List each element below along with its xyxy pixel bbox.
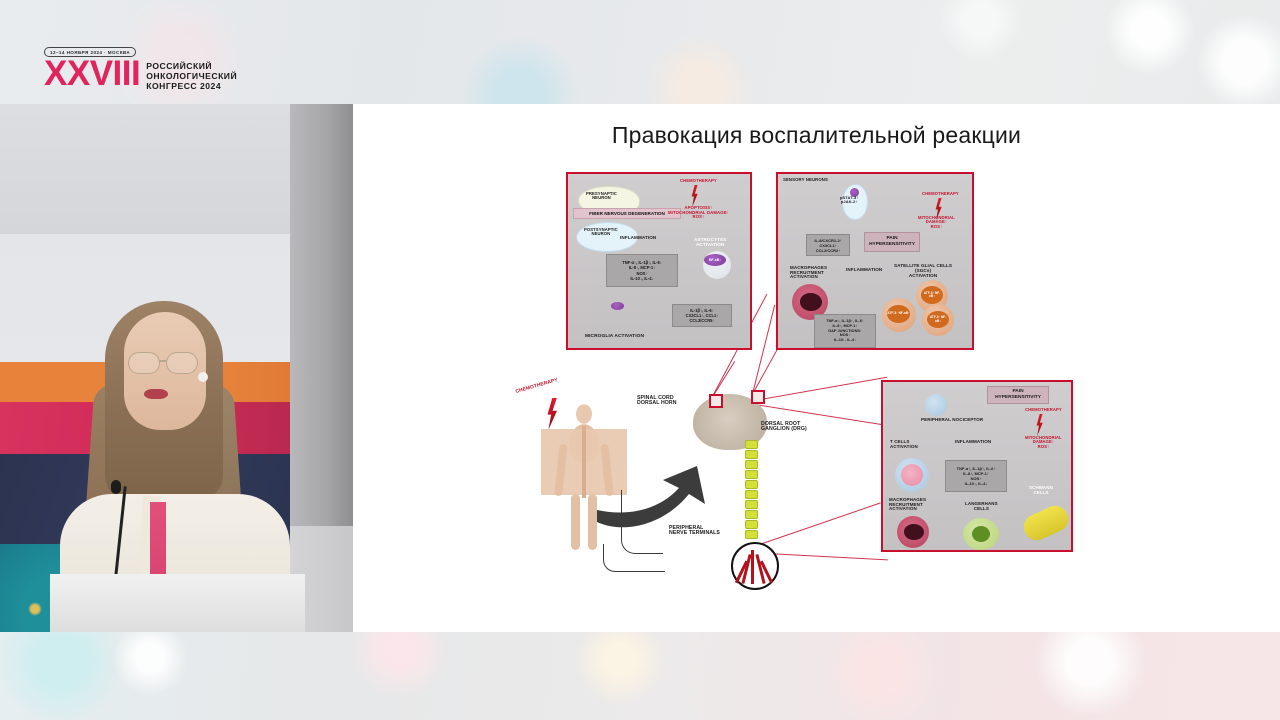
backdrop-wall — [0, 104, 290, 234]
footer-band — [0, 632, 1280, 720]
logo-line-1: РОССИЙСКИЙ — [146, 62, 237, 71]
congress-logo: 12–14 НОЯБРЯ 2024 · МОСКВА XXVIII РОССИЙ… — [44, 47, 237, 91]
cytokine-box-left: TNF-α↑, IL-1β↑, IL-6↑ IL-8↑, MCP-1↑ NOS↑… — [606, 254, 678, 287]
speaker-video-feed[interactable] — [0, 104, 353, 632]
label-chemotherapy: CHEMOTHERAPY — [680, 179, 717, 183]
slide-surface: Правокация воспалительной реакции PRESYN… — [353, 104, 1280, 628]
pain-hypersensitivity-box: PAIN HYPERSENSITIVITY — [987, 386, 1049, 404]
label-atf3-c: ATF-3↑ NF-κB↑ — [927, 311, 949, 328]
panel-spinal-cord-dorsal-horn: PRESYNAPTIC NEURON POSTSYNAPTIC NEURON F… — [566, 172, 752, 350]
marker-drg[interactable] — [751, 390, 765, 404]
label-satellite-glial-cells: SATELLITE GLIAL CELLS (SGCs) ACTIVATION — [894, 264, 952, 278]
arm-left — [554, 444, 567, 497]
label-mitochondrial-damage: MITOCHONDRIAL DAMAGE↑ ROS↑ — [918, 216, 955, 229]
speaker-glasses-left-lens — [128, 352, 160, 374]
label-t-cells-activation: T CELLS ACTIVATION — [890, 440, 918, 449]
label-mitochondrial-damage: MITOCHONDRIAL DAMAGE↑ ROS↑ — [1025, 436, 1062, 449]
connector-line — [752, 305, 775, 395]
spine — [582, 426, 586, 498]
logo-main: XXVIII РОССИЙСКИЙ ОНКОЛОГИЧЕСКИЙ КОНГРЕС… — [44, 60, 237, 92]
label-dorsal-root-ganglion: DORSAL ROOT GANGLION (DRG) — [761, 422, 807, 433]
slide-title: Правокация воспалительной реакции — [353, 122, 1280, 149]
microphone-icon — [111, 480, 121, 494]
speaker-earring — [198, 372, 208, 382]
label-inflammation: INFLAMMATION — [846, 268, 882, 273]
marker-spinal-cord[interactable] — [709, 394, 723, 408]
label-atf3-b: ATF-3↑ NF-κB↑ — [887, 305, 910, 323]
label-pstat-pjak: pSTAT-3↑ pJAK-2↑ — [840, 196, 858, 204]
overview-arrow-icon — [593, 464, 713, 534]
macrophage-cell — [897, 516, 929, 548]
figure-chemokine-signaling: PRESYNAPTIC NEURON POSTSYNAPTIC NEURON F… — [493, 172, 1153, 572]
label-nfkb: NF-κB↑ — [704, 254, 726, 266]
connector-line — [748, 502, 881, 549]
label-presynaptic-neuron: PRESYNAPTIC NEURON — [586, 192, 617, 201]
chemokine-box-left: IL-1β↑, IL-6↑ CX3CL1↑, CCL1↑ CCL3/CCR5↑ — [672, 304, 732, 327]
label-astrocytes-activation: ASTROCYTES ACTIVATION — [694, 238, 726, 248]
panel-peripheral-nerve-terminals: PAIN HYPERSENSITIVITY CHEMOTHERAPY MITOC… — [881, 380, 1073, 552]
label-inflammation: INFLAMMATION — [620, 236, 656, 241]
macrophage-nucleus — [800, 293, 822, 311]
nerve-trace-lower — [603, 544, 665, 572]
speaker-glasses-bridge — [159, 360, 167, 362]
label-schwann-cells: SCHWANN CELLS — [1029, 486, 1053, 495]
nociceptor-soma — [925, 394, 947, 416]
langerhans-nucleus — [972, 526, 990, 542]
langerhans-cell — [963, 518, 999, 550]
label-macrophages-recruitment: MACROPHAGES RECRUITMENT ACTIVATION — [889, 498, 926, 512]
label-postsynaptic-neuron: POSTSYNAPTIC NEURON — [584, 228, 618, 237]
label-inflammation: INFLAMMATION — [955, 440, 991, 445]
nerve-terminal-inset — [731, 542, 779, 590]
label-macrophages-recruitment: MACROPHAGES RECRUITMENT ACTIVATION — [790, 266, 827, 280]
label-microglia-activation: MICROGLIA ACTIVATION — [585, 334, 644, 339]
connector-line — [755, 377, 887, 401]
label-fiber-nervous-degeneration: FIBER NERVOUS DEGENERATION — [573, 208, 681, 219]
label-spinal-cord-dorsal-horn: SPINAL CORD DORSAL HORN — [637, 396, 677, 407]
label-atf3-a: ATF-3↑ NF-κB↑ — [921, 286, 943, 304]
label-apoptosis-mitochondrial: APOPTOSIS↑ MITOCHONDRIAL DAMAGE↑ ROS↑ — [668, 206, 729, 220]
t-cell-nucleus — [901, 464, 923, 486]
macrophage-nucleus — [904, 524, 924, 540]
logo-wordmark: РОССИЙСКИЙ ОНКОЛОГИЧЕСКИЙ КОНГРЕСС 2024 — [146, 60, 237, 92]
cytokine-box-peripheral: TNF-α↑, IL-1β↑, IL-6↑ IL-8↑, MCP-1↑ NOS↑… — [945, 460, 1007, 492]
label-chemotherapy-center: CHEMOTHERAPY — [515, 378, 558, 395]
speaker-lips — [144, 389, 168, 399]
label-langerhans-cells: LANGERHANS CELLS — [965, 502, 998, 511]
label-peripheral-nociceptor: PERIPHERAL NOCICEPTOR — [921, 418, 983, 423]
label-sensory-neurons: SENSORY NEURONS — [783, 178, 828, 183]
logo-line-2: ОНКОЛОГИЧЕСКИЙ — [146, 72, 237, 81]
dorsal-root-ganglion-chain — [745, 440, 759, 546]
chemokine-box-drg: IL-8/CXCR1-2↑ CX3CL1↑ CCL2/CCR2↑ — [806, 234, 850, 256]
label-chemotherapy: CHEMOTHERAPY — [1025, 408, 1062, 412]
podium — [50, 574, 305, 632]
presentation-stream-view: 12–14 НОЯБРЯ 2024 · МОСКВА XXVIII РОССИЙ… — [0, 0, 1280, 720]
logo-roman-numeral: XXVIII — [44, 60, 140, 89]
label-chemotherapy: CHEMOTHERAPY — [922, 192, 959, 196]
pain-hypersensitivity-box: PAIN HYPERSENSITIVITY — [864, 232, 920, 252]
t-cell — [895, 458, 929, 492]
logo-line-3: КОНГРЕСС 2024 — [146, 82, 237, 91]
cytokine-box-drg: TNF-α↑, IL-1β↑, IL-6↑ IL-8↑, MCP-1↑ GAP … — [814, 314, 876, 348]
speaker-glasses-right-lens — [166, 352, 198, 374]
panel-dorsal-root-ganglion: SENSORY NEURONS pSTAT-3↑ pJAK-2↑ CHEMOTH… — [776, 172, 974, 350]
leg-left — [571, 494, 580, 550]
stage-column — [290, 104, 353, 526]
microglia-nucleus — [611, 302, 624, 310]
